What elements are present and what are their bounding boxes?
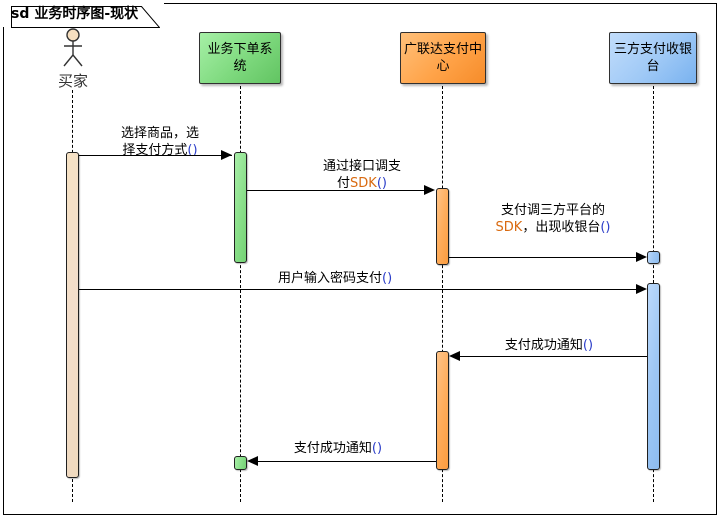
message-label-2-line1: 通过接口调支 (323, 159, 401, 174)
message-label-5-text: 支付成功通知 (505, 338, 583, 353)
message-line-1 (79, 155, 232, 156)
message-arrowhead-5 (449, 351, 460, 361)
message-label-4: 用户输入密码支付() (278, 270, 438, 287)
message-line-4 (79, 289, 644, 290)
message-line-2 (247, 190, 428, 191)
message-label-3-line1: 支付调三方平台的 (501, 203, 605, 218)
message-label-3-line2: ，出现收银台 (522, 220, 600, 235)
message-line-5 (460, 356, 647, 357)
message-label-5-paren: () (583, 338, 593, 353)
message-label-1-line1: 选择商品，选 (121, 126, 199, 141)
frame-keyword: sd (11, 6, 29, 22)
message-label-2: 通过接口调支付SDK() (282, 158, 442, 192)
actor-icon-buyer (57, 28, 89, 68)
message-arrowhead-1 (221, 150, 232, 160)
message-label-2-sdk: SDK (350, 176, 377, 191)
participant-box-order-system[interactable]: 业务下单系统 (199, 32, 281, 84)
message-label-6-text: 支付成功通知 (294, 441, 372, 456)
lifeline-order-system (240, 86, 241, 502)
participant-label-glodon-pay-center: 广联达支付中心 (404, 41, 482, 75)
participant-label-order-system: 业务下单系统 (203, 41, 277, 75)
message-label-3-paren: () (600, 220, 610, 235)
message-arrowhead-4 (636, 284, 647, 294)
message-label-6: 支付成功通知() (273, 440, 403, 457)
participant-label-third-party-cashier: 三方支付收银台 (613, 41, 693, 75)
activation-glodon-pay-center-1 (436, 188, 449, 265)
message-label-1: 选择商品，选择支付方式() (80, 125, 240, 159)
activation-third-party-cashier-1 (647, 251, 660, 264)
message-line-3 (449, 257, 643, 258)
message-label-2-line2: 付 (337, 176, 350, 191)
activation-third-party-cashier-2 (647, 283, 660, 470)
message-label-4-paren: () (382, 271, 392, 286)
diagram-title-tab: sd 业务时序图-现状 (3, 3, 164, 27)
message-arrowhead-2 (424, 185, 435, 195)
message-arrowhead-3 (636, 252, 647, 262)
activation-order-system-2 (234, 456, 247, 470)
message-label-5: 支付成功通知() (484, 337, 614, 354)
sequence-diagram-canvas: sd 业务时序图-现状 买家 业务下单系统 广联达支付中心 三方支付收银台 选择… (0, 0, 723, 520)
message-label-3: 支付调三方平台的SDK，出现收银台() (455, 202, 651, 236)
participant-box-glodon-pay-center[interactable]: 广联达支付中心 (400, 32, 486, 84)
frame-title: 业务时序图-现状 (34, 3, 138, 23)
message-line-6 (258, 461, 436, 462)
message-label-6-paren: () (372, 441, 382, 456)
participant-label-buyer: 买家 (33, 70, 113, 91)
participant-box-third-party-cashier[interactable]: 三方支付收银台 (609, 32, 697, 84)
activation-glodon-pay-center-2 (436, 351, 449, 470)
message-label-3-sdk: SDK (496, 220, 523, 235)
activation-buyer (66, 152, 79, 478)
message-label-2-paren: () (377, 176, 387, 191)
message-label-4-text: 用户输入密码支付 (278, 271, 382, 286)
activation-order-system-1 (234, 152, 247, 263)
message-arrowhead-6 (247, 456, 258, 466)
